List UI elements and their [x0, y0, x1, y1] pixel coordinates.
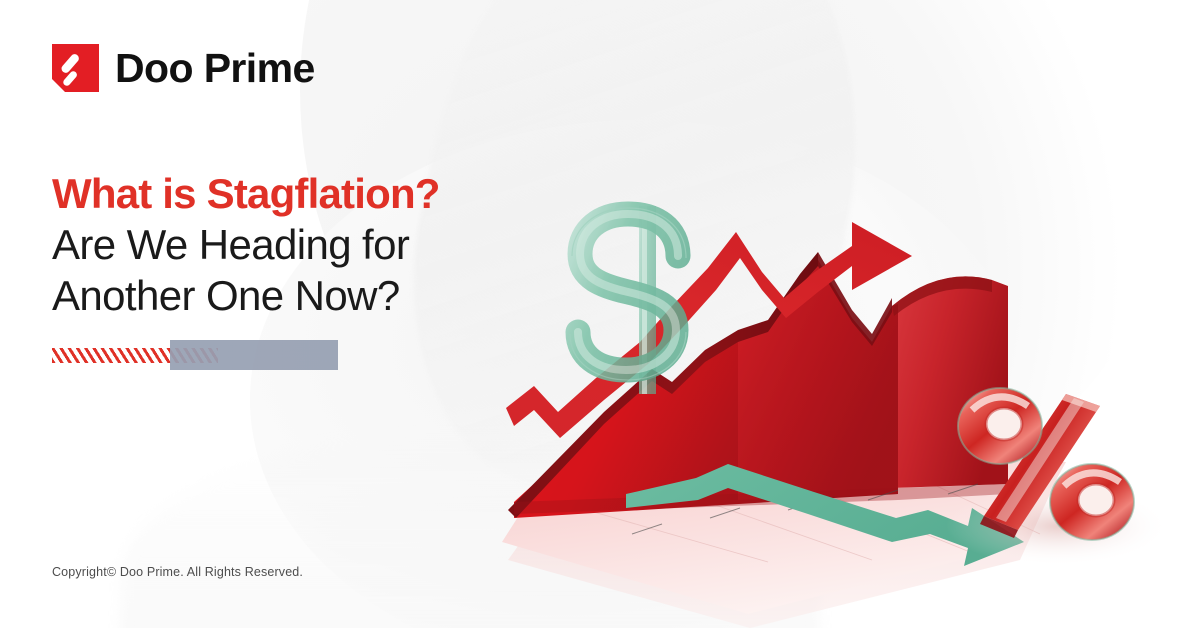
stagflation-banner: Doo Prime What is Stagflation? Are We He…: [0, 0, 1200, 628]
brand-logo[interactable]: Doo Prime: [52, 44, 315, 92]
headline-line-3: Another One Now?: [52, 270, 572, 321]
decorative-divider: [52, 340, 332, 372]
copyright-text: Copyright© Doo Prime. All Rights Reserve…: [52, 565, 303, 579]
brand-name: Doo Prime: [115, 48, 315, 89]
headline-block: What is Stagflation? Are We Heading for …: [52, 168, 572, 322]
headline-line-2: Are We Heading for: [52, 219, 572, 270]
headline-line-1: What is Stagflation?: [52, 168, 572, 219]
stagflation-illustration: [500, 90, 1200, 628]
doo-prime-logo-mark-icon: [52, 44, 99, 92]
dot-grid-icon: [170, 340, 338, 370]
glass-dollar-sign-icon: [570, 206, 686, 394]
